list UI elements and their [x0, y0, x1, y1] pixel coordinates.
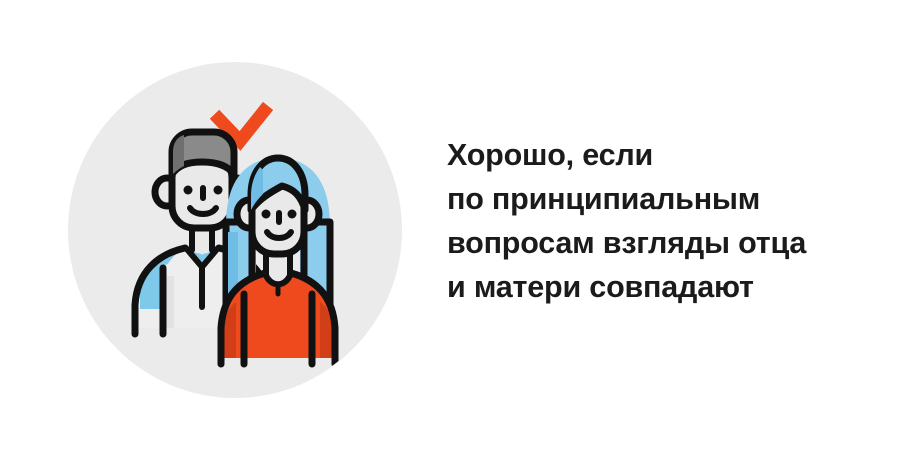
- caption-text: Хорошо, если по принципиальным вопросам …: [447, 133, 877, 309]
- caption-line-1: Хорошо, если: [447, 133, 877, 177]
- parents-couple-illustration: [68, 62, 402, 398]
- caption-line-4: и матери совпадают: [447, 265, 877, 309]
- figures-svg: [68, 62, 402, 398]
- mother-figure: [221, 158, 335, 364]
- poster-canvas: Хорошо, если по принципиальным вопросам …: [0, 0, 920, 460]
- caption-line-3: вопросам взгляды отца: [447, 221, 877, 265]
- caption-line-2: по принципиальным: [447, 177, 877, 221]
